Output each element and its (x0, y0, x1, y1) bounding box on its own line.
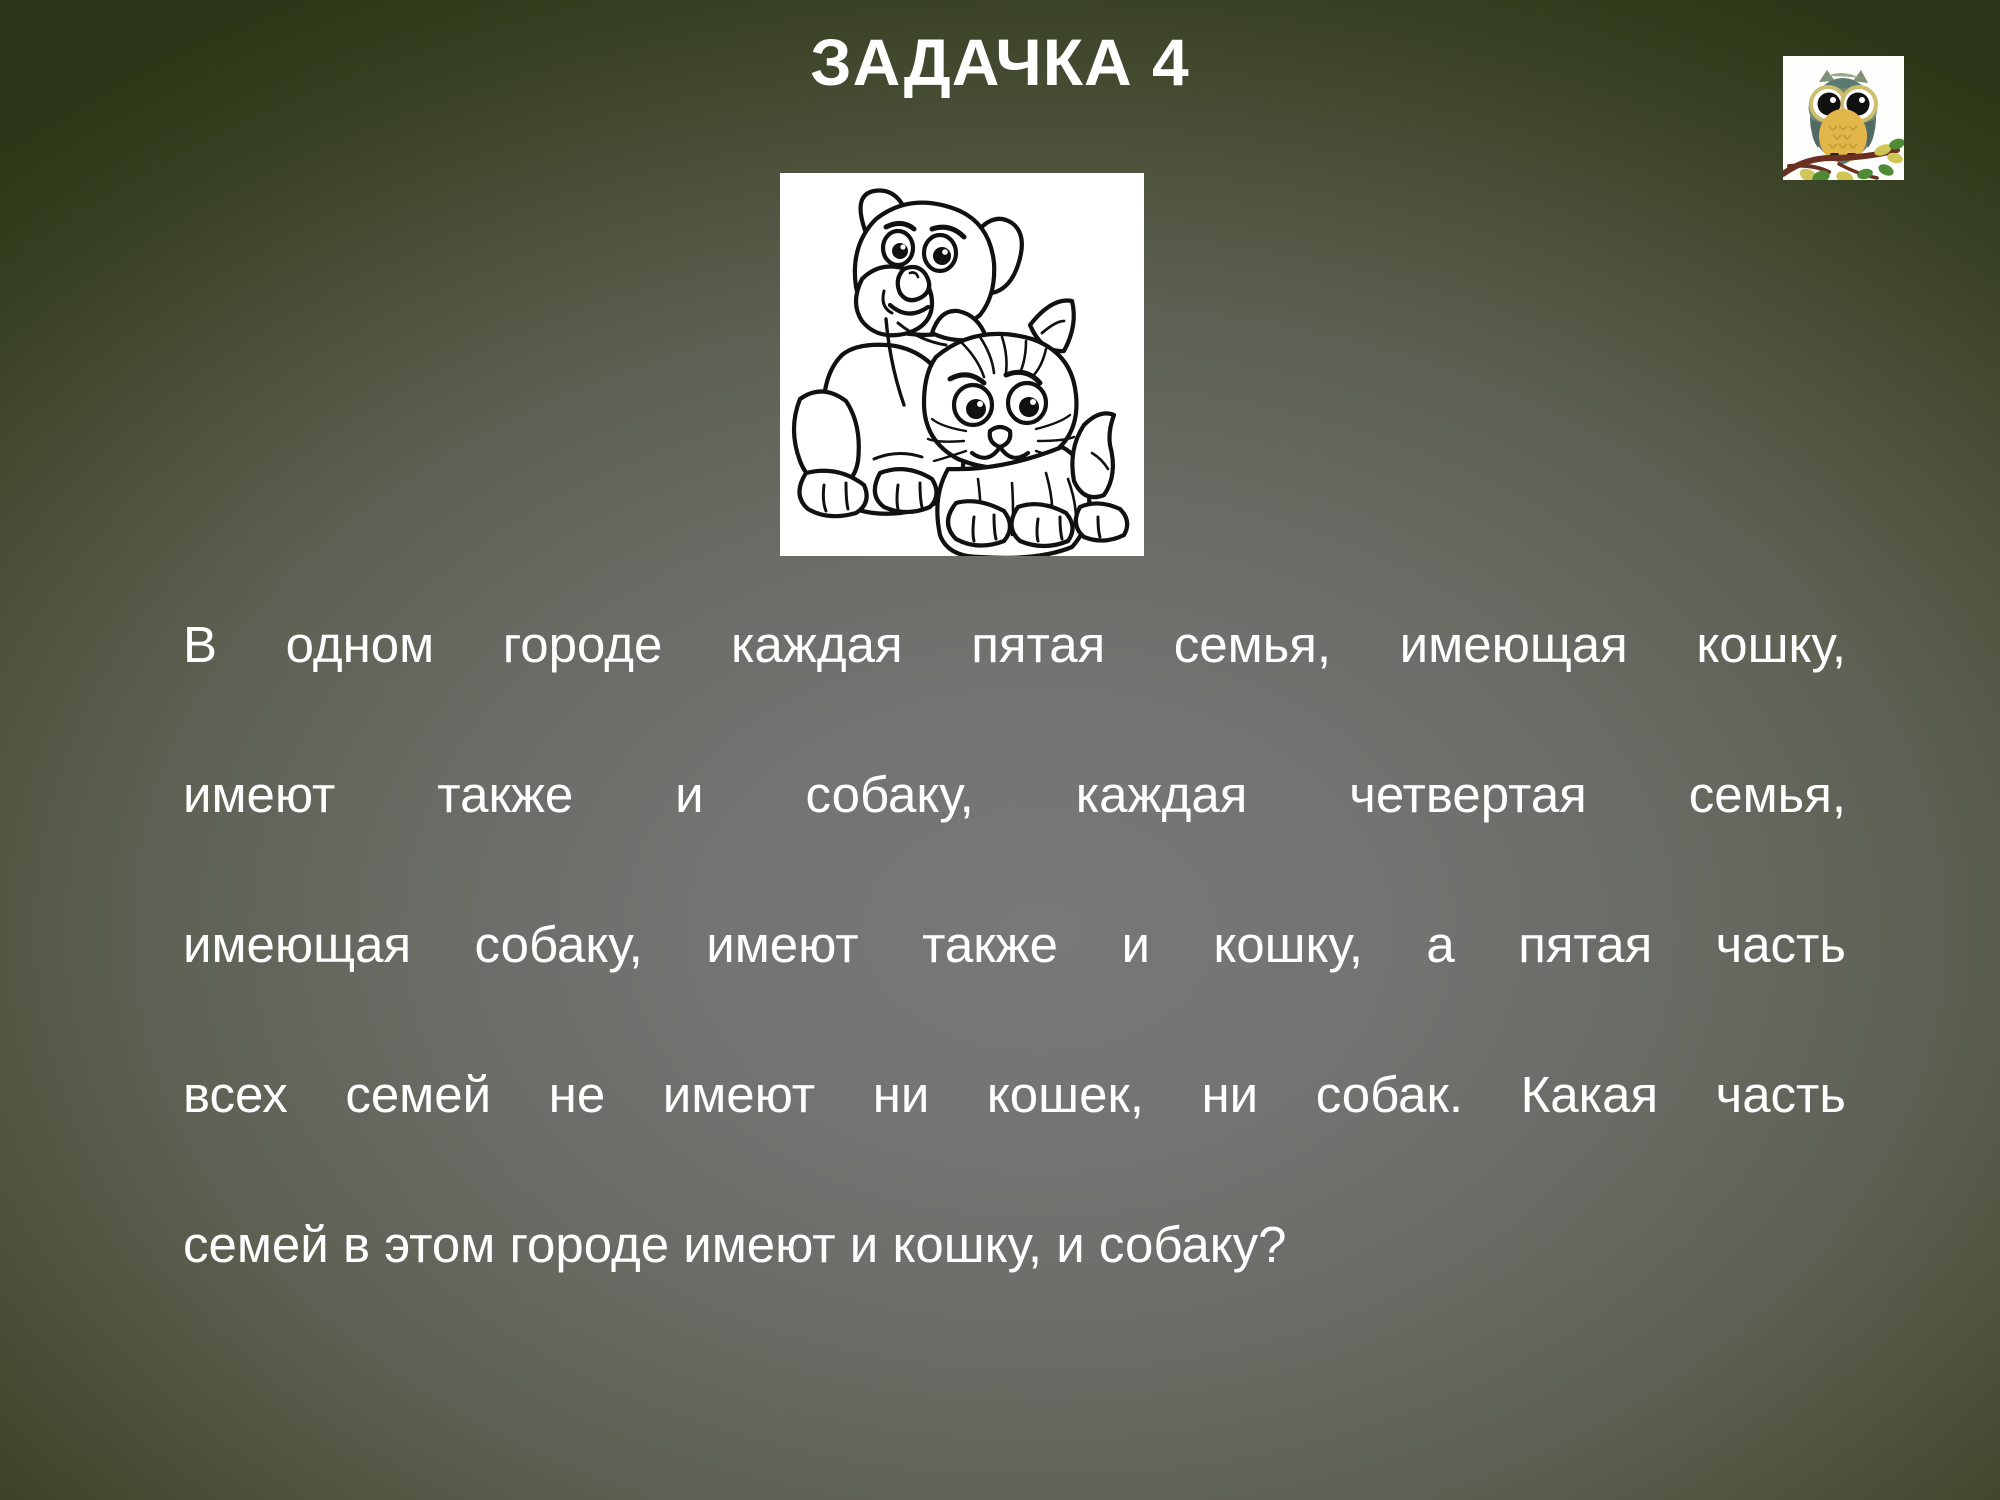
problem-line-2: имеют также и собаку, каждая четвертая с… (183, 757, 1846, 907)
owl-logo (1783, 56, 1904, 180)
puppy-and-kitten-icon (780, 173, 1144, 556)
pets-illustration (780, 173, 1144, 556)
problem-line-4: всех семей не имеют ни кошек, ни собак. … (183, 1057, 1846, 1207)
owl-icon (1783, 56, 1904, 180)
problem-text: В одном городе каждая пятая семья, имеющ… (183, 607, 1846, 1282)
problem-line-1: В одном городе каждая пятая семья, имеющ… (183, 607, 1846, 757)
problem-line-3: имеющая собаку, имеют также и кошку, а п… (183, 907, 1846, 1057)
slide: ЗАДАЧКА 4 (0, 0, 2000, 1500)
problem-line-5: семей в этом городе имеют и кошку, и соб… (183, 1207, 1846, 1282)
page-title: ЗАДАЧКА 4 (0, 26, 2000, 99)
